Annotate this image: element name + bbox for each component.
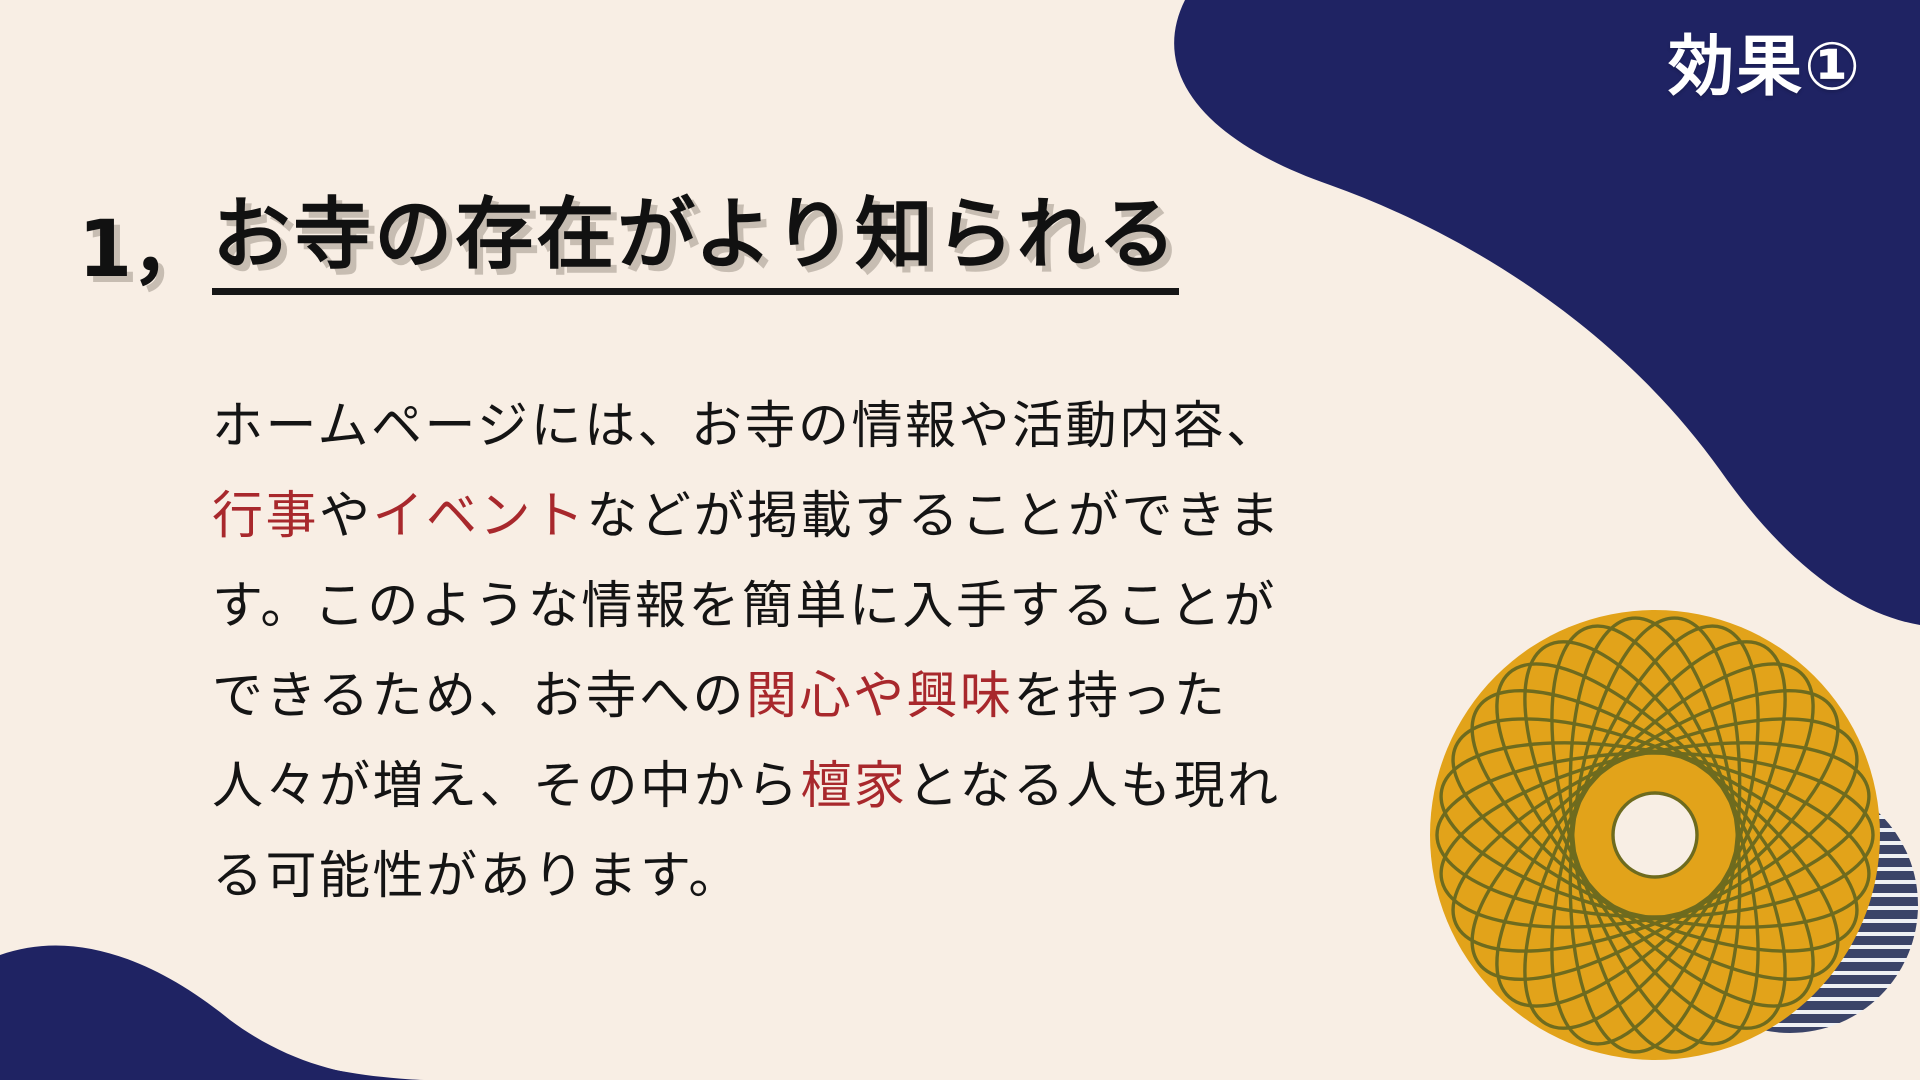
body-text: ホームページには、お寺の情報や活動内容、 bbox=[212, 397, 1279, 456]
highlighted-term: 檀家 bbox=[801, 757, 908, 816]
body-text: る可能性があります。 bbox=[212, 847, 742, 906]
body-text: す。このような情報を簡単に入手することが bbox=[212, 577, 1277, 636]
highlighted-term: 行事 bbox=[212, 487, 319, 546]
body-text: 人々が増え、その中から bbox=[212, 757, 801, 816]
body-text: できるため、お寺への bbox=[212, 667, 746, 726]
body-text: や bbox=[319, 487, 373, 546]
body-line: 行事やイベントなどが掲載することができま bbox=[212, 472, 1352, 562]
effect-badge: 効果① bbox=[1668, 34, 1862, 100]
body-paragraph: ホームページには、お寺の情報や活動内容、行事やイベントなどが掲載することができま… bbox=[212, 382, 1352, 922]
body-text: となる人も現れ bbox=[908, 757, 1281, 816]
slide-canvas: 効果① 1， お寺の存在がより知られる ホームページには、お寺の情報や活動内容、… bbox=[0, 0, 1920, 1080]
highlighted-term: イベント bbox=[373, 487, 587, 546]
body-line: 人々が増え、その中から檀家となる人も現れ bbox=[212, 742, 1352, 832]
highlighted-term: 関心や興味 bbox=[746, 667, 1014, 726]
heading-number: 1， bbox=[78, 207, 212, 294]
orange-spirograph-circle bbox=[1422, 602, 1887, 1067]
body-line: す。このような情報を簡単に入手することが bbox=[212, 562, 1352, 652]
body-text: などが掲載することができま bbox=[587, 487, 1283, 546]
heading-text: お寺の存在がより知られる bbox=[212, 192, 1179, 294]
body-line: ホームページには、お寺の情報や活動内容、 bbox=[212, 382, 1352, 472]
navy-striped-circle bbox=[1662, 777, 1918, 1033]
page-title: 1， お寺の存在がより知られる bbox=[78, 192, 1179, 294]
body-line: できるため、お寺への関心や興味を持った bbox=[212, 652, 1352, 742]
body-text: を持った bbox=[1014, 667, 1228, 726]
body-line: る可能性があります。 bbox=[212, 832, 1352, 922]
navy-wave-bottom-left bbox=[0, 963, 420, 1080]
